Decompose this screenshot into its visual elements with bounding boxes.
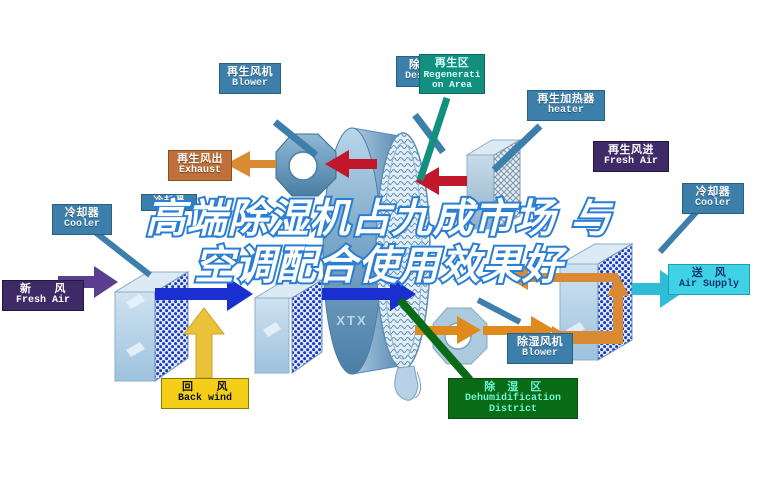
callout-regeneration-area-en2: on Area — [422, 80, 482, 90]
cooler-coil-box-2 — [255, 280, 322, 373]
watermark-text: XTX — [336, 313, 367, 328]
callout-air-supply-en: Air Supply — [671, 280, 747, 291]
arrow-exhaust — [226, 151, 276, 177]
callout-regeneration-exhaust[interactable]: 再生风出 Exhaust — [168, 150, 232, 181]
diagram-canvas: XTX 除湿转轮 Desiccant 再生风机 Blower 再生风出 Exha… — [0, 0, 757, 488]
callout-regeneration-fresh-air-en: Fresh Air — [596, 157, 666, 168]
callout-regeneration-fresh-air[interactable]: 再生风进 Fresh Air — [593, 141, 669, 172]
callout-fresh-air-inlet[interactable]: 新 风 Fresh Air — [2, 280, 84, 311]
callout-dehumidification-district[interactable]: 除 湿 区 Dehumidification District — [448, 378, 578, 419]
callout-fresh-air-inlet-en: Fresh Air — [5, 296, 81, 307]
callout-regeneration-blower[interactable]: 再生风机 Blower — [219, 63, 281, 94]
callout-cooler-right-en: Cooler — [685, 199, 741, 210]
callout-regeneration-area[interactable]: 再生区 Regenerati on Area — [419, 54, 485, 94]
arrow-back-wind — [184, 308, 224, 378]
callout-cooler-upper-left[interactable]: 冷却器 — [141, 194, 197, 211]
callout-regeneration-heater[interactable]: 再生加热器 heater — [527, 90, 605, 121]
callout-cooler-left[interactable]: 冷却器 Cooler — [52, 204, 112, 235]
callout-back-wind[interactable]: 回 风 Back wind — [161, 378, 249, 409]
callout-cooler-left-en: Cooler — [55, 220, 109, 231]
callout-regeneration-heater-en: heater — [530, 106, 602, 117]
callout-air-supply[interactable]: 送 风 Air Supply — [668, 264, 750, 295]
callout-regeneration-exhaust-en: Exhaust — [171, 166, 229, 177]
dehumidifier-schematic: XTX — [0, 0, 757, 488]
callout-regeneration-blower-en: Blower — [222, 79, 278, 90]
callout-dehumidification-blower[interactable]: 除湿风机 Blower — [507, 333, 573, 364]
callout-cooler-right[interactable]: 冷却器 Cooler — [682, 183, 744, 214]
callout-back-wind-en: Back wind — [164, 394, 246, 405]
callout-cooler-upper-left-cn: 冷却器 — [144, 197, 194, 208]
callout-dehumidification-blower-en: Blower — [510, 349, 570, 360]
callout-dehumidification-district-en2: District — [451, 405, 575, 416]
